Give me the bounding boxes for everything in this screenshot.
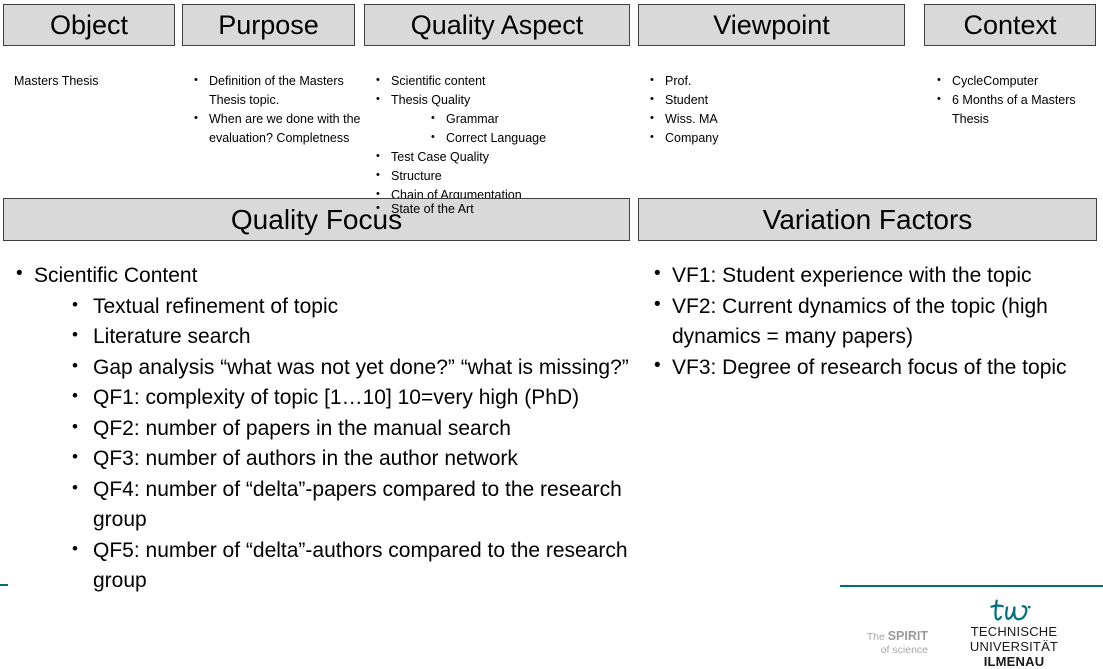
- list-item: Definition of the Masters Thesis topic.: [192, 72, 362, 110]
- spirit-line-1: The SPIRIT: [836, 630, 928, 644]
- tu-ilmenau-logo: TECHNISCHE UNIVERSITÄT ILMENAU: [928, 598, 1100, 669]
- list-item: QF2: number of papers in the manual sear…: [4, 414, 630, 445]
- list-item: Company: [648, 129, 898, 148]
- purpose-body: Definition of the Masters Thesis topic. …: [192, 72, 362, 148]
- list-item: Grammar: [374, 110, 636, 129]
- list-item: Thesis Quality: [374, 91, 636, 110]
- quality-aspect-list-overflow: State of the Art: [374, 200, 636, 219]
- viewpoint-list: Prof. Student Wiss. MA Company: [648, 72, 898, 148]
- list-item: Literature search: [4, 322, 630, 353]
- object-body: Masters Thesis: [14, 72, 174, 91]
- quality-focus-body: Scientific Content Textual refinement of…: [4, 261, 630, 597]
- header-box-object: Object: [3, 4, 175, 46]
- list-item: 6 Months of a Masters Thesis: [935, 91, 1085, 129]
- spirit-line-2: of science: [836, 644, 928, 657]
- header-label-purpose: Purpose: [218, 10, 319, 41]
- list-item: Scientific content: [374, 72, 636, 91]
- purpose-list: Definition of the Masters Thesis topic. …: [192, 72, 362, 148]
- tu-script-mark-icon: [988, 598, 1040, 624]
- header-box-quality-aspect: Quality Aspect: [364, 4, 630, 46]
- header-box-context: Context: [924, 4, 1096, 46]
- list-item: Correct Language: [374, 129, 636, 148]
- list-item: Test Case Quality: [374, 148, 636, 167]
- list-item: Scientific Content: [4, 261, 630, 292]
- list-item: VF1: Student experience with the topic: [642, 261, 1094, 292]
- list-item: QF1: complexity of topic [1…10] 10=very …: [4, 383, 630, 414]
- list-item: QF3: number of authors in the author net…: [4, 444, 630, 475]
- quality-aspect-overflow: State of the Art: [374, 200, 636, 219]
- list-item: QF5: number of “delta”-authors compared …: [4, 536, 630, 597]
- list-item: VF3: Degree of research focus of the top…: [642, 353, 1094, 384]
- variation-factors-body: VF1: Student experience with the topic V…: [642, 261, 1094, 383]
- quality-focus-list: Scientific Content Textual refinement of…: [4, 261, 630, 597]
- variation-factors-list: VF1: Student experience with the topic V…: [642, 261, 1094, 383]
- header-label-quality-aspect: Quality Aspect: [411, 10, 584, 41]
- list-item: Prof.: [648, 72, 898, 91]
- spirit-strong: SPIRIT: [888, 629, 928, 643]
- tu-mark-dot: [1028, 606, 1031, 609]
- brand-divider-rule: [840, 585, 1103, 587]
- context-body: CycleComputer 6 Months of a Masters Thes…: [935, 72, 1085, 129]
- list-item: Textual refinement of topic: [4, 292, 630, 323]
- spirit-prefix: The: [867, 631, 888, 643]
- object-text: Masters Thesis: [14, 72, 174, 91]
- list-item: State of the Art: [374, 200, 636, 219]
- header-label-context: Context: [963, 10, 1056, 41]
- university-name-line-1: TECHNISCHE UNIVERSITÄT: [928, 624, 1100, 654]
- list-item: When are we done with the evaluation? Co…: [192, 110, 362, 148]
- header-label-variation-factors: Variation Factors: [763, 204, 973, 236]
- left-edge-tick-mark: [0, 584, 8, 586]
- quality-aspect-body: Scientific content Thesis Quality Gramma…: [374, 72, 636, 205]
- quality-aspect-list: Scientific content Thesis Quality Gramma…: [374, 72, 636, 205]
- header-label-object: Object: [50, 10, 128, 41]
- viewpoint-body: Prof. Student Wiss. MA Company: [648, 72, 898, 148]
- header-box-variation-factors: Variation Factors: [638, 198, 1097, 241]
- context-list: CycleComputer 6 Months of a Masters Thes…: [935, 72, 1085, 129]
- header-box-viewpoint: Viewpoint: [638, 4, 905, 46]
- list-item: QF4: number of “delta”-papers compared t…: [4, 475, 630, 536]
- header-label-viewpoint: Viewpoint: [713, 10, 830, 41]
- list-item: Wiss. MA: [648, 110, 898, 129]
- university-name-line-2: ILMENAU: [928, 654, 1100, 669]
- header-box-purpose: Purpose: [182, 4, 355, 46]
- list-item: Structure: [374, 167, 636, 186]
- list-item: CycleComputer: [935, 72, 1085, 91]
- list-item: Gap analysis “what was not yet done?” “w…: [4, 353, 630, 384]
- spirit-of-science-logo: The SPIRIT of science: [836, 630, 928, 657]
- list-item: VF2: Current dynamics of the topic (high…: [642, 292, 1094, 353]
- list-item: Student: [648, 91, 898, 110]
